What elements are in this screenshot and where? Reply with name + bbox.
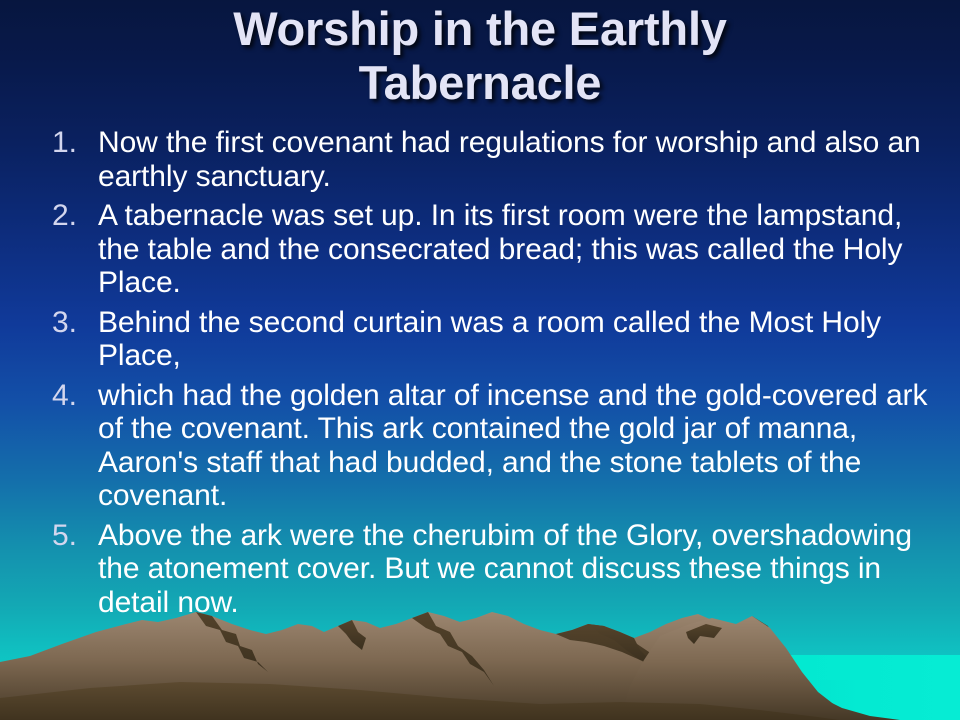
- title-line-2: Tabernacle: [0, 56, 960, 110]
- list-item-text: Now the first covenant had regulations f…: [98, 126, 948, 193]
- list-item-text: Behind the second curtain was a room cal…: [98, 306, 948, 373]
- title-line-1: Worship in the Earthly: [0, 2, 960, 56]
- list-item: 3. Behind the second curtain was a room …: [52, 306, 948, 373]
- numbered-list: 1. Now the first covenant had regulation…: [52, 126, 948, 625]
- list-item-text: Above the ark were the cherubim of the G…: [98, 519, 948, 620]
- list-item: 5. Above the ark were the cherubim of th…: [52, 519, 948, 620]
- list-item-number: 2.: [52, 199, 98, 233]
- list-item-number: 1.: [52, 126, 98, 160]
- list-item-number: 3.: [52, 306, 98, 340]
- list-item-text: A tabernacle was set up. In its first ro…: [98, 199, 948, 300]
- list-item-number: 4.: [52, 379, 98, 413]
- list-item-text: which had the golden altar of incense an…: [98, 379, 948, 513]
- presentation-slide: Worship in the Earthly Tabernacle 1. Now…: [0, 0, 960, 720]
- list-item-number: 5.: [52, 519, 98, 553]
- list-item: 4. which had the golden altar of incense…: [52, 379, 948, 513]
- list-item: 1. Now the first covenant had regulation…: [52, 126, 948, 193]
- list-item: 2. A tabernacle was set up. In its first…: [52, 199, 948, 300]
- slide-title: Worship in the Earthly Tabernacle: [0, 0, 960, 110]
